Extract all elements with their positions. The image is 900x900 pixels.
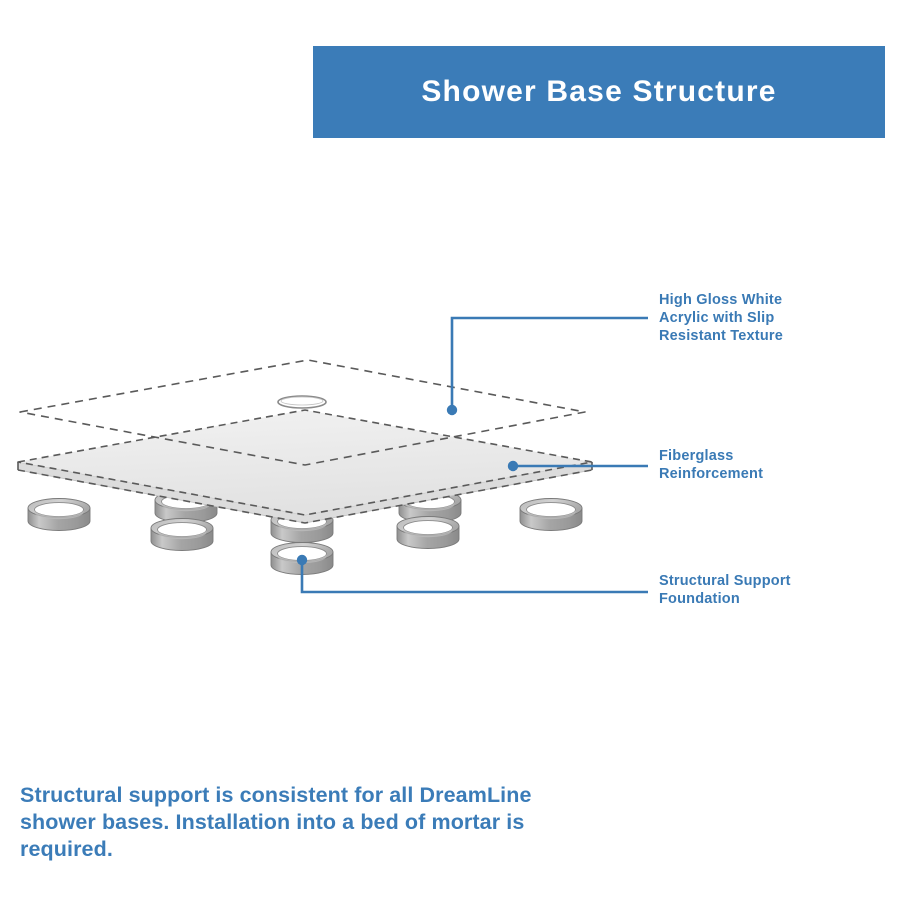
callout-label-acrylic: High Gloss White Acrylic with Slip Resis… <box>659 291 884 345</box>
support-ring <box>520 499 582 531</box>
header-banner: Shower Base Structure <box>313 46 885 138</box>
shower-base-infographic: Shower Base Structure <box>0 0 900 900</box>
callout-label-fiberglass: Fiberglass Reinforcement <box>659 447 884 483</box>
leader-line-acrylic <box>447 318 648 415</box>
callout-label-support: Structural Support Foundation <box>659 572 884 608</box>
page-title: Shower Base Structure <box>421 75 776 109</box>
support-ring <box>151 519 213 551</box>
support-ring <box>28 499 90 531</box>
support-ring <box>397 517 459 549</box>
fiberglass-slab <box>18 410 592 523</box>
footer-caption: Structural support is consistent for all… <box>20 782 590 863</box>
drain-opening <box>278 396 326 408</box>
leader-line-support <box>297 555 648 592</box>
